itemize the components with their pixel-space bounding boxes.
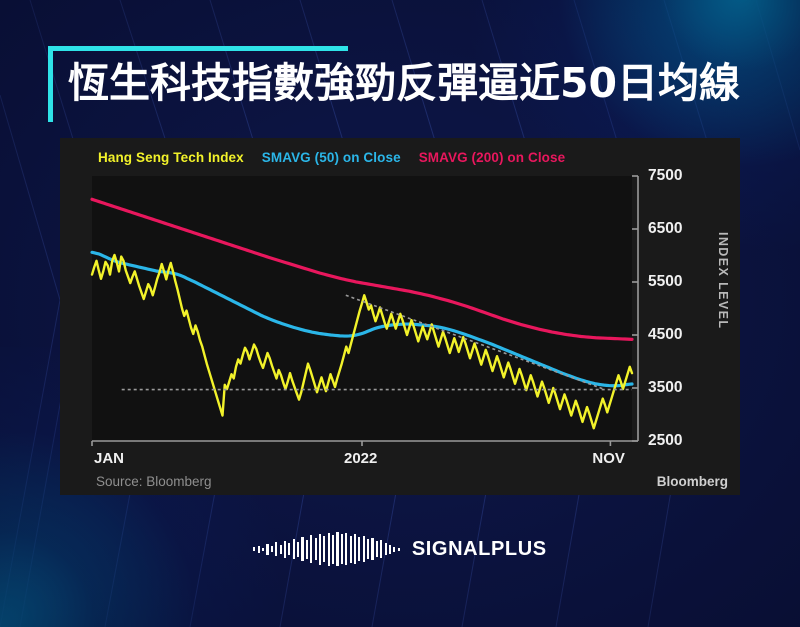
slide-stage: 恆生科技指數強勁反彈逼近50日均線 Hang Seng Tech Index S… — [0, 0, 800, 627]
annotation-layer — [122, 295, 632, 389]
waveform-bar — [354, 534, 356, 564]
waveform-bar — [341, 534, 343, 564]
waveform-bar — [253, 547, 255, 551]
bloomberg-brand-label: Bloomberg — [657, 474, 728, 489]
chart-panel: Hang Seng Tech Index SMAVG (50) on Close… — [60, 138, 740, 495]
waveform-bar — [323, 536, 325, 562]
y-tick-label: 7500 — [648, 167, 682, 185]
waveform-bar — [358, 537, 360, 561]
waveform-bar — [306, 540, 308, 559]
waveform-bar — [284, 541, 286, 558]
y-tick-label: 3500 — [648, 379, 682, 397]
y-tick-label: 4500 — [648, 326, 682, 344]
waveform-bar — [297, 542, 299, 557]
title-bracket-left — [48, 46, 53, 122]
waveform-bar — [288, 543, 290, 555]
title-block: 恆生科技指數強勁反彈逼近50日均線 — [48, 46, 768, 122]
waveform-bar — [258, 546, 260, 553]
waveform-bar — [293, 539, 295, 559]
waveform-bar — [332, 535, 334, 564]
waveform-bar — [266, 544, 268, 555]
waveform-bar — [385, 543, 387, 555]
waveform-icon — [253, 531, 400, 567]
series-layer — [92, 199, 632, 428]
waveform-bar — [310, 535, 312, 563]
waveform-bar — [262, 548, 264, 551]
waveform-bar — [275, 542, 277, 556]
waveform-bar — [376, 541, 378, 557]
waveform-bar — [367, 539, 369, 559]
x-tick-label: 2022 — [344, 450, 377, 467]
footer-logo: SIGNALPLUS — [0, 524, 800, 574]
axis-layer — [92, 176, 638, 446]
waveform-bar — [345, 533, 347, 565]
waveform-bar — [301, 537, 303, 561]
y-axis-label: INDEX LEVEL — [716, 232, 730, 329]
waveform-bar — [350, 536, 352, 563]
waveform-bar — [315, 538, 317, 560]
brand-name: SIGNALPLUS — [412, 538, 547, 561]
waveform-bar — [271, 546, 273, 552]
waveform-bar — [319, 534, 321, 565]
waveform-bar — [371, 538, 373, 560]
x-tick-label: JAN — [94, 450, 124, 467]
waveform-bar — [398, 548, 400, 551]
waveform-bar — [393, 547, 395, 552]
waveform-bar — [363, 536, 365, 562]
source-label: Source: Bloomberg — [96, 474, 212, 489]
waveform-bar — [380, 540, 382, 558]
x-tick-label: NOV — [592, 450, 625, 467]
waveform-bar — [328, 533, 330, 566]
y-tick-label: 2500 — [648, 432, 682, 450]
waveform-bar — [389, 545, 391, 554]
chart-svg — [60, 138, 740, 495]
waveform-bar — [336, 532, 338, 566]
y-tick-label: 6500 — [648, 220, 682, 238]
waveform-bar — [280, 545, 282, 554]
page-title: 恆生科技指數強勁反彈逼近50日均線 — [68, 48, 740, 118]
y-tick-label: 5500 — [648, 273, 682, 291]
